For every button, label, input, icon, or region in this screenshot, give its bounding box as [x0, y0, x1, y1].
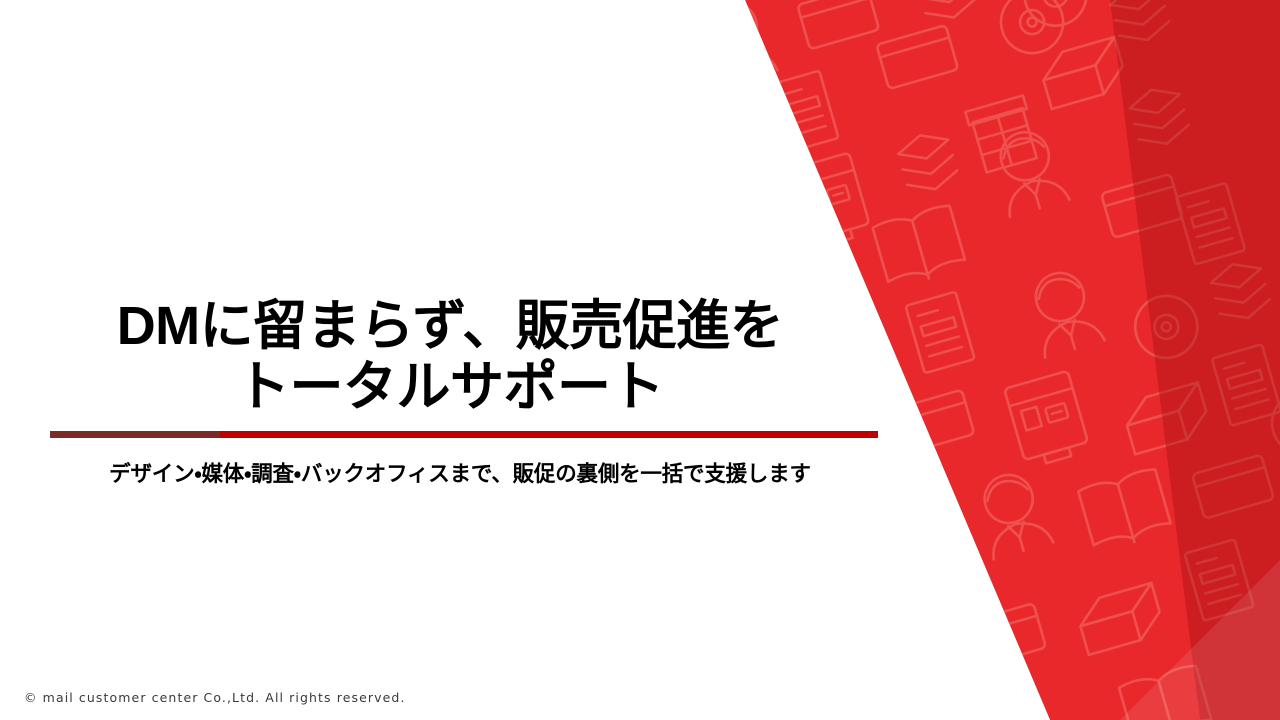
title-divider [50, 431, 878, 438]
page-title: DMに留まらず、販売促進を トータルサポート [0, 296, 900, 418]
page-subtitle: デザイン・媒体・調査・バックオフィスまで、販促の裏側を一括で支援します [0, 457, 920, 488]
title-slide: DMに留まらず、販売促進を トータルサポート デザイン・媒体・調査・バックオフィ… [0, 0, 1280, 720]
copyright-footer: © mail customer center Co.,Ltd. All righ… [24, 690, 406, 705]
divider-segment-dark [50, 431, 220, 438]
divider-segment-bright [220, 431, 878, 438]
slide-content: DMに留まらず、販売促進を トータルサポート デザイン・媒体・調査・バックオフィ… [0, 0, 900, 720]
